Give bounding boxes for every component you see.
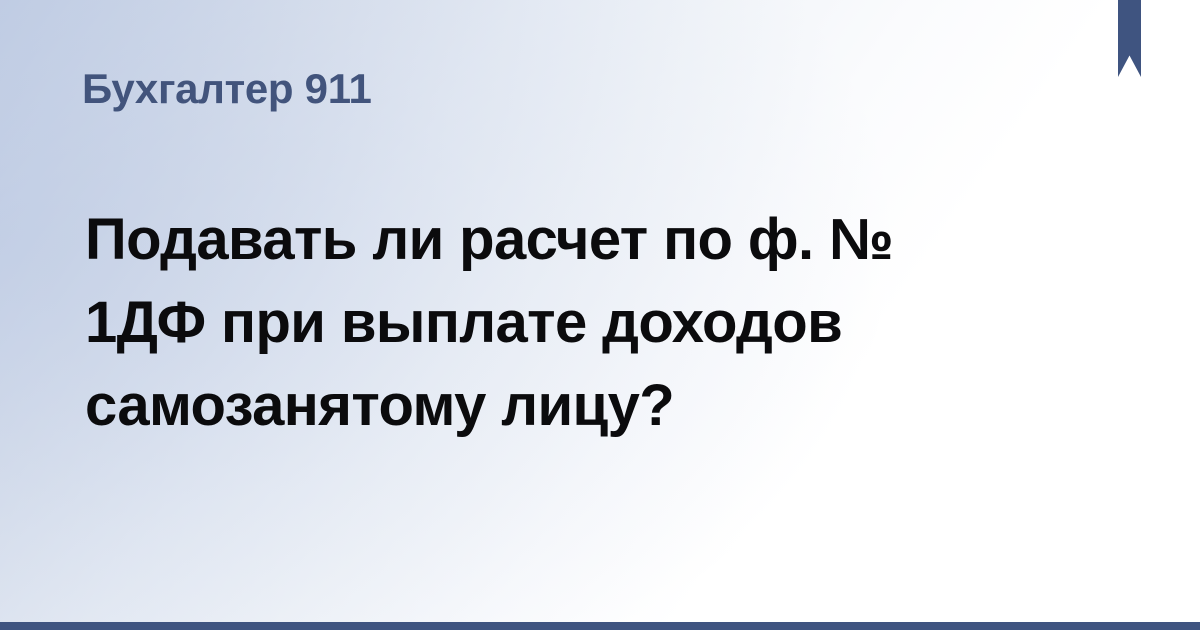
article-title-line-3: самозанятому лицу? [85,364,1015,447]
share-card: Бухгалтер 911 Подавать ли расчет по ф. №… [0,0,1200,630]
article-title-line-1: Подавать ли расчет по ф. № [85,198,1015,281]
article-title: Подавать ли расчет по ф. № 1ДФ при выпла… [85,198,1015,447]
bottom-accent-bar [0,622,1200,630]
article-title-line-2: 1ДФ при выплате доходов [85,281,1015,364]
site-logo[interactable]: Бухгалтер 911 [82,62,372,116]
bookmark-icon[interactable] [1118,0,1141,77]
